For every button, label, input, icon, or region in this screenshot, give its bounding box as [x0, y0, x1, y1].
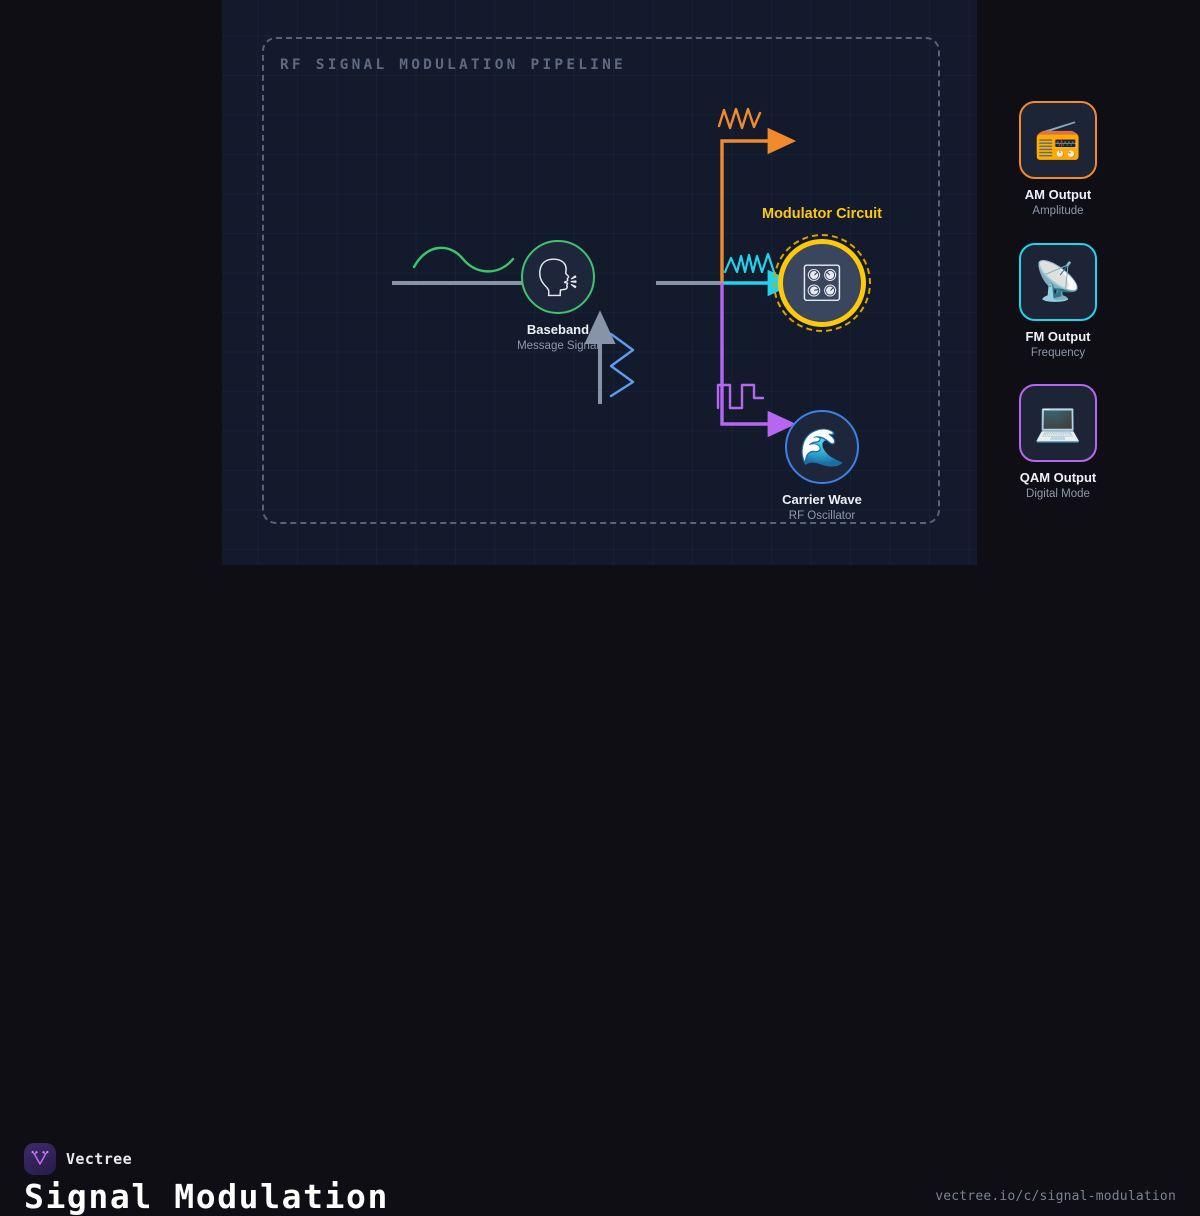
radio-icon: 📻: [1019, 101, 1097, 179]
modulator-ring: 🎛: [778, 239, 866, 327]
node-baseband-label: Baseband: [499, 322, 617, 337]
node-am-sublabel: Amplitude: [999, 205, 1117, 217]
diagram-canvas: RF SIGNAL MODULATION PIPELINE: [222, 0, 977, 565]
satellite-dish-icon: 📡: [1019, 243, 1097, 321]
laptop-icon: 💻: [1019, 384, 1097, 462]
node-fm-sublabel: Frequency: [999, 347, 1117, 359]
node-am-output[interactable]: 📻 AM Output Amplitude: [999, 101, 1117, 217]
brand-name: Vectree: [66, 1150, 132, 1168]
node-modulator-label: Modulator Circuit: [700, 206, 944, 222]
node-carrier-sublabel: RF Oscillator: [763, 510, 881, 522]
node-am-label: AM Output: [999, 187, 1117, 202]
am-wave: [719, 109, 760, 128]
qam-square-wave: [718, 385, 763, 408]
control-knobs-icon: 🎛: [778, 239, 866, 327]
ocean-wave-icon: 🌊: [785, 410, 859, 484]
page-url: vectree.io/c/signal-modulation: [935, 1189, 1176, 1204]
node-qam-output[interactable]: 💻 QAM Output Digital Mode: [999, 384, 1117, 500]
node-baseband-sublabel: Message Signal: [499, 340, 617, 352]
node-baseband[interactable]: 🗣 Baseband Message Signal: [499, 240, 617, 352]
node-modulator-circuit[interactable]: 🎛: [763, 239, 881, 327]
page-title: Signal Modulation: [24, 1177, 389, 1216]
node-qam-sublabel: Digital Mode: [999, 488, 1117, 500]
node-carrier-label: Carrier Wave: [763, 492, 881, 507]
node-carrier-wave[interactable]: 🌊 Carrier Wave RF Oscillator: [763, 410, 881, 522]
footer: Vectree Signal Modulation vectree.io/c/s…: [0, 565, 1200, 675]
node-qam-label: QAM Output: [999, 470, 1117, 485]
brand: Vectree: [24, 1143, 132, 1175]
speaking-head-icon: 🗣: [521, 240, 595, 314]
vectree-logo-icon: [24, 1143, 56, 1175]
node-fm-label: FM Output: [999, 329, 1117, 344]
node-fm-output[interactable]: 📡 FM Output Frequency: [999, 243, 1117, 359]
